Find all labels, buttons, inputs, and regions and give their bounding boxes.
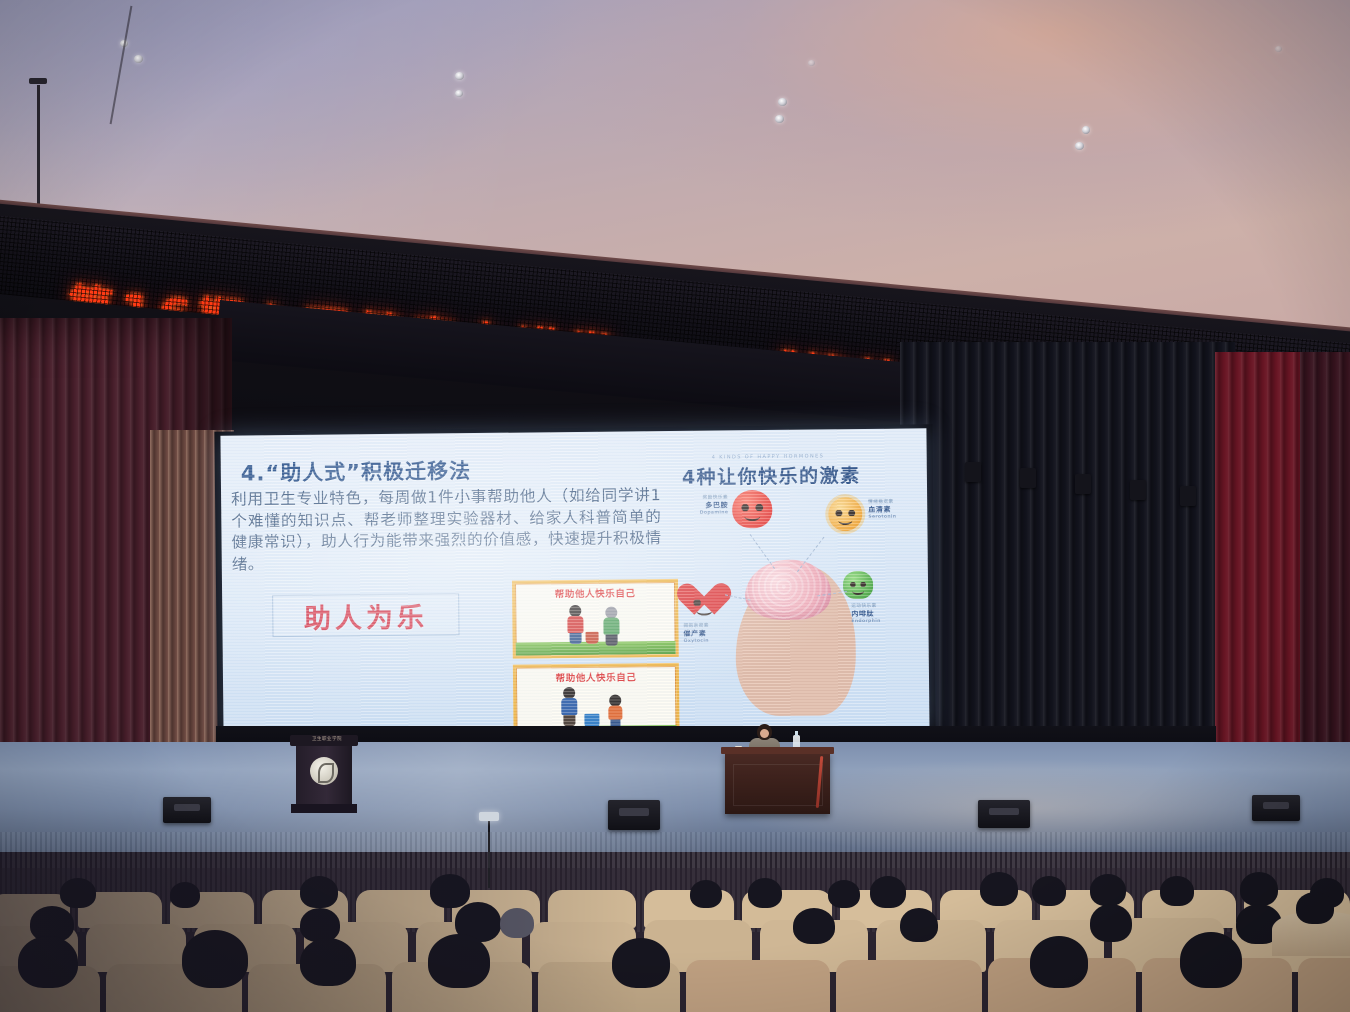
brain-folds	[745, 559, 832, 620]
cartoon-kid	[608, 706, 622, 728]
face-smile	[852, 586, 864, 594]
audience-head	[430, 874, 470, 908]
slide-slogan-box: 助人为乐	[272, 593, 459, 637]
audience-head	[748, 878, 782, 908]
audience-head	[1030, 936, 1088, 988]
ceiling-spot-light	[808, 60, 815, 66]
stage-rig-light	[1130, 480, 1146, 500]
dopamine-en: Dopamine	[684, 510, 728, 515]
stage-rig-light	[965, 462, 981, 482]
podium: 卫生职业学院	[296, 735, 352, 813]
dopamine-cn: 多巴胺	[684, 500, 728, 510]
hormone-label-endorphin: 运动快乐素 内啡肽 Endorphin	[851, 603, 905, 625]
hormone-label-oxytocin: 拥抱亲密素 催产素 Oxytocin	[683, 622, 733, 644]
seat	[686, 960, 830, 1012]
cartoon-kid	[567, 616, 583, 644]
ceiling-spot-light	[1075, 142, 1084, 150]
serotonin-en: Serotonin	[868, 514, 916, 520]
stage-rig-light	[1020, 468, 1036, 488]
hormone-endorphin	[843, 571, 873, 599]
stage-monitor-speaker	[978, 800, 1030, 828]
audience-head	[793, 908, 835, 944]
audience-head	[1160, 876, 1194, 906]
audience-head	[182, 930, 248, 988]
serotonin-sun-icon	[828, 497, 862, 531]
dopamine-link-line	[750, 534, 775, 569]
audience-head	[980, 872, 1018, 906]
cartoon-caption-bottom: 帮助他人快乐自己	[516, 669, 676, 685]
audience-head	[690, 880, 722, 908]
oxytocin-cn: 催产素	[683, 628, 733, 639]
hormone-label-serotonin: 情绪稳定素 血清素 Serotonin	[868, 498, 916, 520]
kid-legs	[570, 633, 582, 644]
slide-body-text: 利用卫生专业特色，每周做1件小事帮助他人（如给同学讲1个难懂的知识点、帮老师整理…	[231, 485, 662, 575]
kid-body	[567, 616, 583, 633]
audience-head	[1296, 892, 1334, 924]
audience-head	[428, 934, 490, 988]
ceiling-spot-light	[134, 55, 143, 63]
audience-seating	[0, 852, 1350, 1012]
audience-head	[1090, 904, 1132, 942]
cartoon-panels: 帮助他人快乐自己 帮助他人快乐自己	[512, 579, 674, 731]
stage-monitor-speaker	[163, 797, 211, 823]
audience-head	[1032, 876, 1066, 906]
ceiling-spot-light	[778, 98, 787, 106]
ceiling-spot-light	[1082, 126, 1090, 134]
school-emblem-icon	[310, 757, 338, 785]
audience-head	[300, 938, 356, 986]
hormone-oxytocin	[685, 584, 723, 618]
presenter-desk	[725, 752, 830, 814]
audience-head	[612, 938, 670, 988]
kid-body	[603, 618, 619, 635]
cartoon-caption-top: 帮助他人快乐自己	[515, 585, 675, 601]
face-smile	[838, 516, 852, 526]
audience-head	[60, 878, 96, 908]
hormone-dopamine	[732, 490, 772, 528]
auditorium-photo: 第16期心理健康大讲堂 《接纳自我，向阳生长》 4.“助人式”积极迁移法 利用卫…	[0, 0, 1350, 1012]
stage-rig-light	[1180, 486, 1196, 506]
podium-label: 卫生职业学院	[302, 736, 352, 742]
endorphin-en: Endorphin	[851, 619, 905, 625]
infographic-subtitle-latin: 4 KINDS OF HAPPY HORMONES	[712, 453, 825, 460]
hormone-infographic: 4 KINDS OF HAPPY HORMONES 4种让你快乐的激素 奖励快乐…	[676, 452, 919, 714]
hormone-serotonin	[828, 497, 862, 531]
audience-head	[170, 882, 200, 908]
audience-head	[1180, 932, 1242, 988]
dopamine-balloon-icon	[732, 490, 772, 528]
kid-body	[561, 698, 577, 715]
slide-slogan-text: 助人为乐	[304, 595, 428, 635]
seat	[1298, 958, 1350, 1012]
cartoon-panel-top: 帮助他人快乐自己	[512, 579, 679, 659]
oxytocin-heart-icon	[685, 584, 723, 618]
podium-base	[291, 804, 357, 813]
audience-head	[1090, 874, 1126, 906]
endorphin-cn: 内啡肽	[851, 609, 905, 620]
ceiling-spot-light	[1275, 46, 1282, 52]
audience-head	[870, 876, 906, 908]
ceiling-spot-light	[775, 115, 784, 123]
ceiling-spot-light	[455, 90, 463, 97]
cartoon-kid	[603, 618, 619, 644]
infographic-title: 4种让你快乐的激素	[682, 461, 861, 490]
slide-title: 4.“助人式”积极迁移法	[241, 455, 472, 487]
kid-body	[608, 706, 622, 720]
stage-rig-light	[1075, 474, 1091, 494]
stage-foot-light	[479, 812, 499, 821]
endorphin-frog-icon	[843, 571, 873, 599]
audience-head	[828, 880, 860, 908]
audience-head	[1240, 872, 1278, 906]
stage-monitor-speaker	[608, 800, 660, 830]
desk-front-panel	[733, 764, 823, 806]
audience-head	[500, 908, 534, 938]
cartoon-kid	[561, 698, 577, 728]
brain-illustration	[745, 559, 832, 620]
face-smile	[697, 606, 712, 616]
seat	[836, 960, 982, 1012]
hormone-label-dopamine: 奖励快乐素 多巴胺 Dopamine	[684, 494, 728, 515]
face-smile	[744, 511, 760, 522]
kid-legs	[563, 715, 575, 726]
rigging-truss-cap	[29, 78, 47, 84]
serotonin-cn: 血清素	[868, 504, 916, 515]
audience-head	[300, 876, 338, 908]
audience-head	[18, 936, 78, 988]
cartoon-bucket	[586, 632, 599, 644]
presenter-face	[760, 729, 769, 738]
stage-front-edge	[0, 832, 1350, 868]
stage-monitor-speaker	[1252, 795, 1300, 821]
desk-top	[721, 747, 834, 754]
projection-screen: 4.“助人式”积极迁移法 利用卫生专业特色，每周做1件小事帮助他人（如给同学讲1…	[220, 428, 929, 737]
audience-head	[900, 908, 938, 942]
kid-legs	[606, 635, 618, 646]
ceiling-spot-light	[455, 72, 464, 80]
audience-head	[300, 908, 340, 942]
oxytocin-en: Oxytocin	[684, 638, 734, 644]
